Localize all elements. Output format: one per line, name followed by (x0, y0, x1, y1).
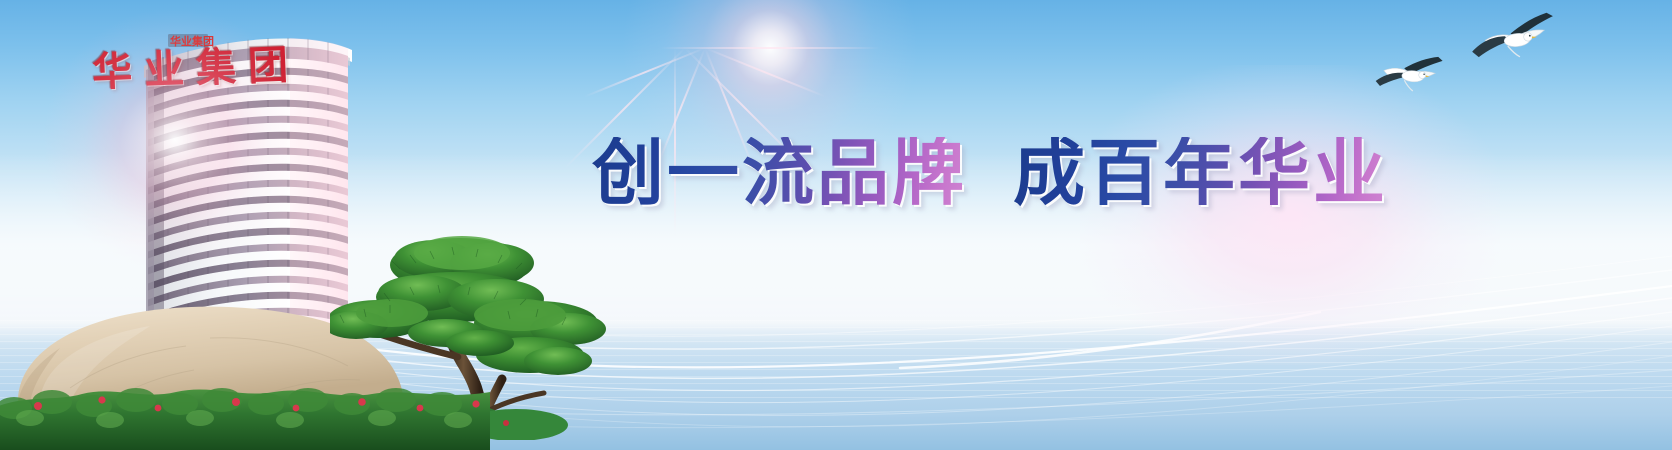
slogan-banner: 创一流品牌 成百年华业 (592, 128, 1388, 218)
stone-carved-text: 华业集团 (91, 32, 301, 98)
hedge-icon (0, 378, 490, 450)
hero-banner: 华业集团 华 (0, 0, 1672, 450)
seagull-icon (1372, 6, 1562, 126)
slogan-part-2: 成百年华业 (1013, 137, 1388, 209)
slogan-part-1: 创一流品牌 (592, 137, 967, 209)
